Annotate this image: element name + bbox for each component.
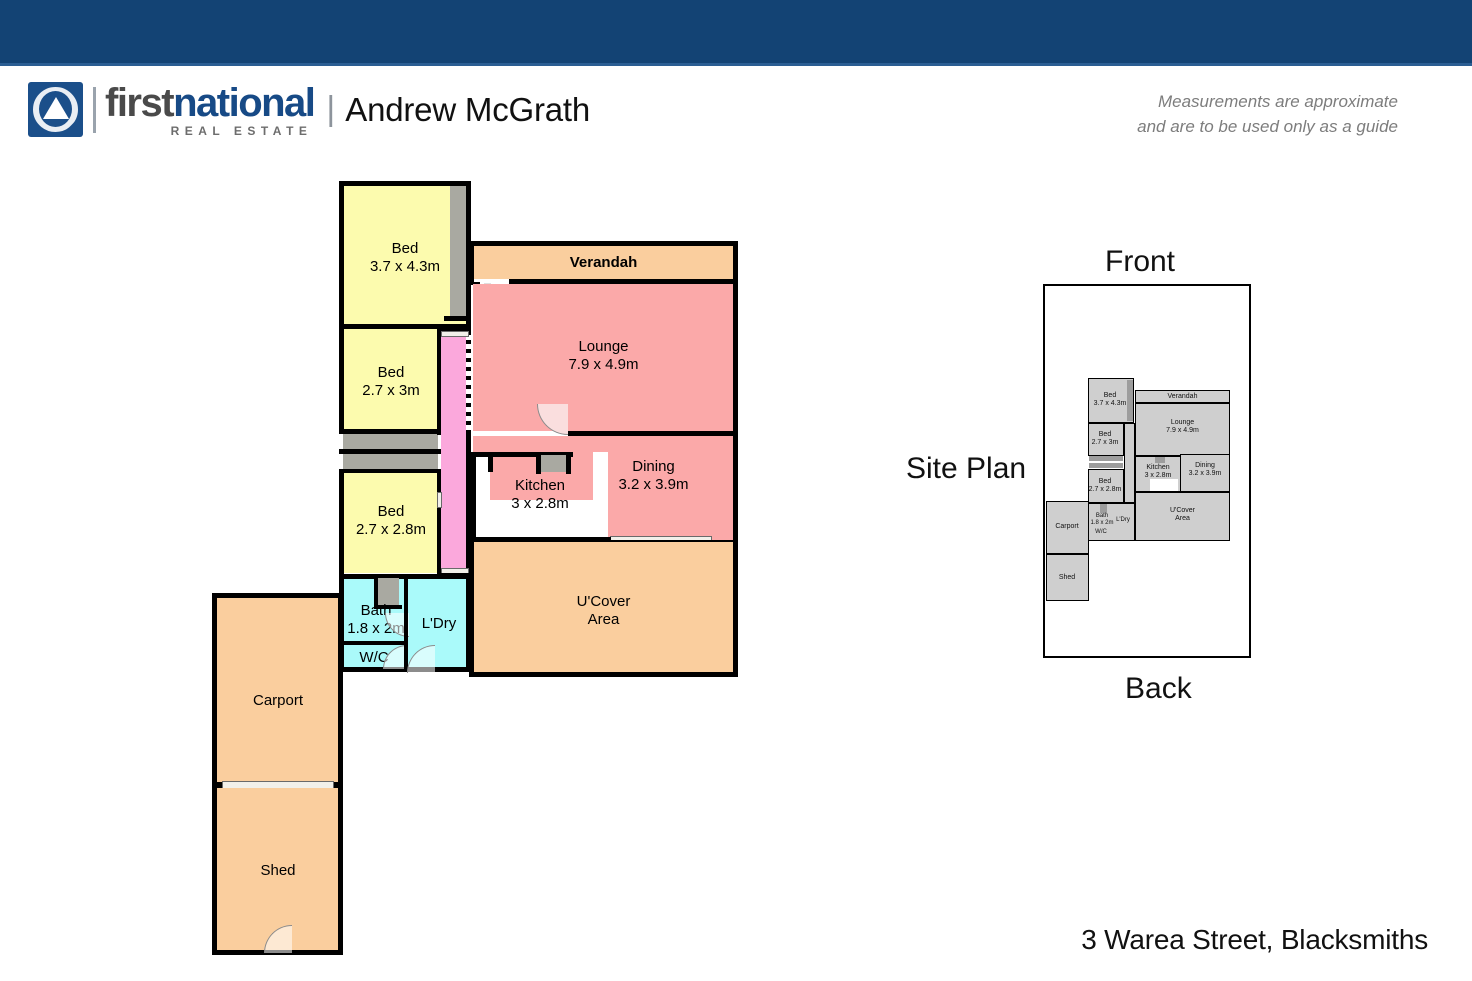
site-plan: Front Site Plan Back Bed 3.7 x 4.3m Bed …: [900, 230, 1460, 730]
verandah-label: Verandah: [473, 254, 734, 272]
wall: [566, 452, 571, 474]
wall: [466, 578, 471, 672]
sp-bed1-label: Bed 3.7 x 4.3m: [1088, 392, 1132, 408]
wall: [469, 672, 738, 677]
carport-fill: [216, 597, 340, 783]
site-plan-front-label: Front: [1105, 245, 1175, 279]
wall: [733, 435, 738, 545]
sp-dining-label: Dining 3.2 x 3.9m: [1180, 462, 1230, 478]
wall: [404, 578, 408, 672]
disclaimer-line-2: and are to be used only as a guide: [1137, 115, 1398, 140]
sp-wc-label: W/C: [1088, 529, 1114, 536]
sp-verandah-label: Verandah: [1135, 393, 1230, 401]
main-floorplan: Bed 3.7 x 4.3m Bed 2.7 x 3m Bed 2.7 x 2.…: [0, 0, 800, 981]
site-plan-title: Site Plan: [906, 452, 1026, 486]
ucover-label: U'Cover Area: [473, 593, 734, 629]
site-boundary: Bed 3.7 x 4.3m Bed 2.7 x 3m Bed 2.7 x 2.…: [1043, 284, 1251, 658]
wall: [212, 593, 217, 787]
bed3-label: Bed 2.7 x 2.8m: [343, 503, 439, 539]
wall: [471, 488, 476, 542]
sp-hallway: [1124, 423, 1135, 503]
hall-door-2: [437, 492, 442, 508]
wall: [536, 452, 541, 474]
lounge-label: Lounge 7.9 x 4.9m: [473, 338, 734, 374]
wall: [437, 329, 441, 435]
bed3-wardrobe-icon: [343, 454, 438, 470]
wall: [488, 452, 493, 472]
sp-bath-cabinet-icon: [1100, 504, 1107, 513]
disclaimer: Measurements are approximate and are to …: [1137, 90, 1398, 139]
sp-ldry-label: L'Dry: [1112, 517, 1134, 524]
sp-lounge-label: Lounge 7.9 x 4.9m: [1135, 419, 1230, 435]
wall: [469, 241, 738, 246]
sp-bed2-label: Bed 2.7 x 3m: [1088, 431, 1122, 447]
wall: [444, 316, 471, 321]
floorplan-page: firstnational REAL ESTATE | Andrew McGra…: [0, 0, 1472, 981]
site-plan-back-label: Back: [1125, 672, 1192, 706]
shed-label: Shed: [216, 862, 340, 880]
bed2-label: Bed 2.7 x 3m: [343, 364, 439, 400]
wall: [343, 641, 405, 645]
hall-door-1: [441, 331, 469, 337]
sp-shed-label: Shed: [1046, 574, 1088, 582]
sp-kitchen-cabinet-icon: [1155, 457, 1165, 463]
wall: [212, 593, 343, 598]
disclaimer-line-1: Measurements are approximate: [1137, 90, 1398, 115]
kitchen-label: Kitchen 3 x 2.8m: [485, 477, 595, 513]
ldry-label: L'Dry: [409, 615, 469, 633]
hall-opening: [466, 335, 471, 431]
bed1-label: Bed 3.7 x 4.3m: [343, 240, 467, 276]
kitchen-cabinet-icon: [540, 455, 566, 472]
property-address: 3 Warea Street, Blacksmiths: [1081, 924, 1428, 956]
wall: [339, 181, 470, 186]
sp-bed3-label: Bed 2.7 x 2.8m: [1088, 478, 1122, 494]
sp-ucover-label: U'Cover Area: [1135, 507, 1230, 523]
sp-kitchen-label: Kitchen 3 x 2.8m: [1137, 464, 1179, 480]
bed2-wardrobe-icon: [343, 434, 438, 450]
sp-bed2-wardrobe-icon: [1089, 456, 1123, 461]
sp-carport-label: Carport: [1046, 523, 1088, 531]
wall: [471, 452, 476, 492]
dining-fill-strip: [473, 436, 573, 452]
sp-bed3-wardrobe-icon: [1089, 463, 1123, 468]
wall: [338, 593, 343, 787]
carport-label: Carport: [216, 692, 340, 710]
sp-kitchen-bench: [1150, 479, 1178, 491]
